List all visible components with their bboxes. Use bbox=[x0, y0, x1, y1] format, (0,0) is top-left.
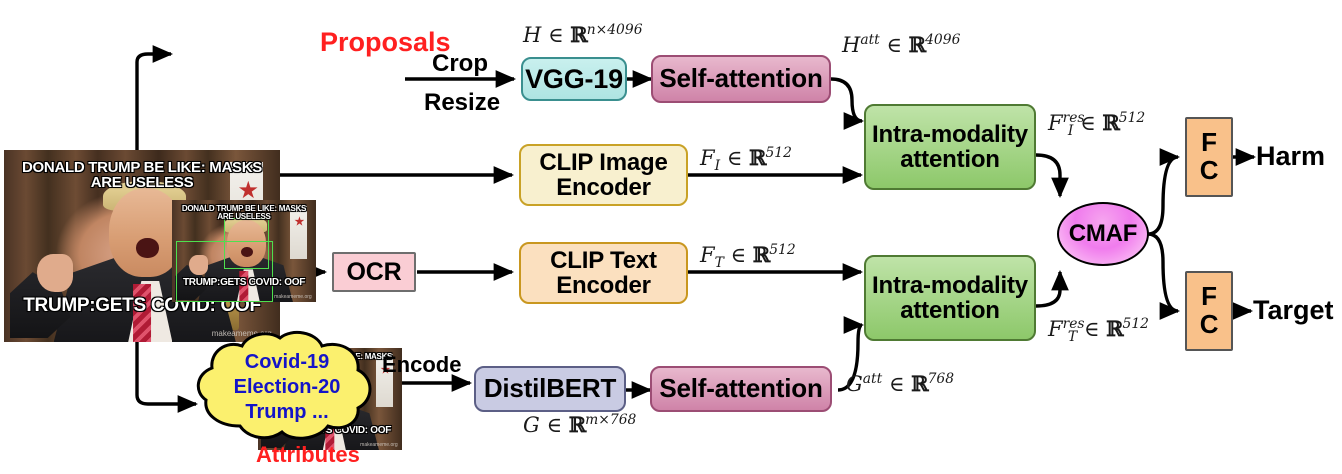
fc-bottom-line2: C bbox=[1200, 311, 1219, 339]
math-FI-exp: 512 bbox=[765, 145, 791, 161]
cloud-line-3: Trump ... bbox=[245, 401, 328, 424]
crop-label: Crop bbox=[432, 50, 488, 78]
self-attention-top-node[interactable]: Self-attention bbox=[651, 55, 831, 103]
math-G-exp: m×768 bbox=[585, 412, 636, 428]
math-FIres-set: ℝ bbox=[1102, 110, 1118, 135]
output-target-label: Target bbox=[1253, 295, 1334, 326]
fc-top-line1: F bbox=[1201, 129, 1217, 157]
encode-label: Encode bbox=[382, 352, 461, 378]
vgg19-node[interactable]: VGG-19 bbox=[521, 57, 627, 101]
math-FTres-rel: ∈ bbox=[1084, 317, 1100, 341]
meme-hand bbox=[37, 254, 73, 292]
math-FTres-sym: F bbox=[1048, 317, 1063, 341]
math-Hatt-exp: 4096 bbox=[925, 32, 960, 48]
math-G-set: ℝ bbox=[569, 412, 585, 437]
math-G-sym: G bbox=[523, 413, 540, 437]
math-G: G ∈ ℝm×768 bbox=[523, 412, 636, 437]
distilbert-label: DistilBERT bbox=[484, 375, 616, 403]
proposal1-watermark: makeameme.org bbox=[274, 294, 312, 300]
meme-top-text: DONALD TRUMP BE LIKE: MASKS ARE USELESS bbox=[4, 160, 280, 190]
fc-bottom-node[interactable]: F C bbox=[1185, 271, 1233, 351]
attributes-label: Attributes bbox=[256, 442, 360, 468]
math-H-proposals: H ∈ ℝn×4096 bbox=[523, 22, 643, 47]
math-FIres-rel: ∈ bbox=[1080, 111, 1096, 135]
math-H-att: Hatt ∈ ℝ4096 bbox=[842, 32, 960, 57]
meme-mouth bbox=[136, 238, 158, 257]
cmaf-label: CMAF bbox=[1069, 221, 1138, 246]
self-attention-bottom-node[interactable]: Self-attention bbox=[650, 366, 832, 412]
intra-modality-top-line2: attention bbox=[900, 147, 1000, 172]
math-Hatt-set: ℝ bbox=[909, 32, 925, 57]
math-F-I-res: FresI ∈ ℝ512 bbox=[1048, 110, 1145, 139]
math-Gatt-set: ℝ bbox=[911, 371, 927, 396]
math-Hatt-rel: ∈ bbox=[886, 33, 902, 57]
proposals-label: Proposals bbox=[320, 27, 451, 58]
math-Hatt-sym: H bbox=[842, 33, 860, 57]
math-Gatt-exp: 768 bbox=[928, 371, 954, 387]
math-FI-rel: ∈ bbox=[727, 146, 743, 170]
clip-image-encoder-line1: CLIP Image bbox=[539, 150, 667, 175]
proposal-thumbnail-1: DONALD TRUMP BE LIKE: MASKS ARE USELESS … bbox=[172, 200, 316, 302]
clip-text-encoder-line2: Encoder bbox=[556, 273, 651, 298]
proposal1-region-box-b bbox=[224, 218, 269, 269]
math-G-rel: ∈ bbox=[546, 413, 562, 437]
ocr-node[interactable]: OCR bbox=[332, 252, 416, 292]
intra-modality-attention-top-node[interactable]: Intra-modality attention bbox=[864, 104, 1036, 190]
math-F-I: FI ∈ ℝ512 bbox=[700, 145, 792, 174]
math-FT-exp: 512 bbox=[769, 242, 795, 258]
math-Gatt-rel: ∈ bbox=[889, 372, 905, 396]
attributes-cloud: Covid-19 Election-20 Trump ... bbox=[188, 330, 386, 444]
math-Gatt-sup: att bbox=[863, 371, 882, 387]
clip-text-encoder-line1: CLIP Text bbox=[550, 248, 657, 273]
math-FT-sym: F bbox=[700, 243, 715, 267]
ocr-label: OCR bbox=[347, 259, 402, 286]
math-FIres-sub: I bbox=[1068, 123, 1073, 139]
cloud-line-1: Covid-19 bbox=[245, 351, 329, 374]
cloud-line-2: Election-20 bbox=[234, 376, 341, 399]
math-FIres-exp: 512 bbox=[1119, 110, 1145, 126]
intra-modality-bottom-line2: attention bbox=[900, 298, 1000, 323]
proposal1-bottom-text: TRUMP:GETS COVID: OOF bbox=[172, 278, 316, 288]
vgg19-label: VGG-19 bbox=[525, 65, 623, 94]
output-harm-label: Harm bbox=[1256, 141, 1325, 172]
intra-modality-top-line1: Intra-modality bbox=[872, 122, 1028, 147]
intra-modality-bottom-line1: Intra-modality bbox=[872, 273, 1028, 298]
proposal1-top-text: DONALD TRUMP BE LIKE: MASKS ARE USELESS bbox=[172, 205, 316, 221]
math-FI-sym: F bbox=[700, 146, 715, 170]
math-Hatt-sup: att bbox=[860, 32, 879, 48]
math-F-T: FT ∈ ℝ512 bbox=[700, 242, 796, 271]
math-FT-set: ℝ bbox=[753, 242, 769, 267]
math-FTres-exp: 512 bbox=[1123, 316, 1149, 332]
cmaf-node[interactable]: CMAF bbox=[1057, 202, 1149, 266]
math-FI-sub: I bbox=[715, 158, 720, 174]
math-FTres-sub: T bbox=[1068, 329, 1077, 345]
cloud-text: Covid-19 Election-20 Trump ... bbox=[188, 330, 386, 444]
math-FI-set: ℝ bbox=[749, 145, 765, 170]
self-attention-top-label: Self-attention bbox=[659, 65, 822, 93]
math-H-set: ℝ bbox=[570, 22, 586, 47]
math-Gatt-sym: G bbox=[846, 372, 863, 396]
intra-modality-attention-bottom-node[interactable]: Intra-modality attention bbox=[864, 255, 1036, 341]
clip-image-encoder-node[interactable]: CLIP Image Encoder bbox=[519, 144, 688, 206]
fc-top-line2: C bbox=[1200, 157, 1219, 185]
self-attention-bottom-label: Self-attention bbox=[659, 375, 822, 403]
math-FIres-sym: F bbox=[1048, 111, 1063, 135]
clip-image-encoder-line2: Encoder bbox=[556, 175, 651, 200]
diagram-canvas: DONALD TRUMP BE LIKE: MASKS ARE USELESS … bbox=[0, 0, 1342, 474]
fc-bottom-line1: F bbox=[1201, 283, 1217, 311]
math-G-att: Gatt ∈ ℝ768 bbox=[846, 371, 954, 396]
clip-text-encoder-node[interactable]: CLIP Text Encoder bbox=[519, 242, 688, 304]
math-FTres-set: ℝ bbox=[1106, 316, 1122, 341]
math-F-T-res: FresT ∈ ℝ512 bbox=[1048, 316, 1149, 345]
math-H-sym: H bbox=[523, 23, 541, 47]
fc-top-node[interactable]: F C bbox=[1185, 117, 1233, 197]
resize-label: Resize bbox=[424, 89, 500, 117]
math-FT-rel: ∈ bbox=[731, 243, 747, 267]
distilbert-node[interactable]: DistilBERT bbox=[474, 366, 626, 412]
math-H-exp: n×4096 bbox=[587, 22, 643, 38]
math-H-rel: ∈ bbox=[548, 23, 564, 47]
math-FT-sub: T bbox=[715, 255, 724, 271]
